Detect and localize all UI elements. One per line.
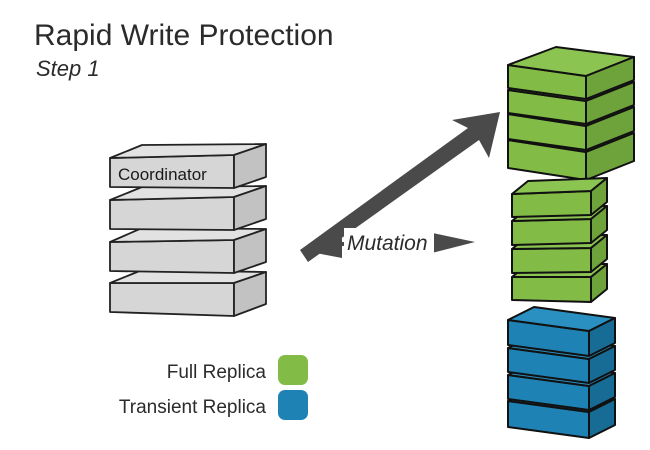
legend-swatch-full-replica xyxy=(278,355,308,385)
mutation-arrows: Mutation xyxy=(300,112,500,262)
full-replica-node-top[interactable] xyxy=(508,47,634,180)
coordinator-slab-2 xyxy=(110,186,266,230)
page-subtitle: Step 1 xyxy=(36,56,100,81)
coordinator-slab-top: Coordinator xyxy=(110,144,266,188)
legend-label-full-replica: Full Replica xyxy=(167,362,267,383)
legend: Full Replica Transient Replica xyxy=(119,355,308,420)
legend-item-full-replica[interactable]: Full Replica xyxy=(167,355,308,385)
rapid-write-protection-diagram: Rapid Write Protection Step 1 xyxy=(0,0,650,450)
legend-item-transient-replica[interactable]: Transient Replica xyxy=(119,390,308,420)
coordinator-slab-3 xyxy=(110,228,266,273)
transient-replica-node-bottom[interactable] xyxy=(508,307,615,438)
diagram-canvas: Rapid Write Protection Step 1 xyxy=(0,0,650,450)
replica-slab xyxy=(512,178,607,217)
full-replica-node-middle[interactable] xyxy=(512,178,607,302)
coordinator-label: Coordinator xyxy=(118,165,207,184)
legend-label-transient-replica: Transient Replica xyxy=(119,397,267,418)
mutation-label: Mutation xyxy=(347,232,428,255)
coordinator-node[interactable]: Coordinator xyxy=(110,144,266,316)
page-title: Rapid Write Protection xyxy=(34,19,334,52)
legend-swatch-transient-replica xyxy=(278,390,308,420)
coordinator-slab-bottom xyxy=(110,270,266,316)
